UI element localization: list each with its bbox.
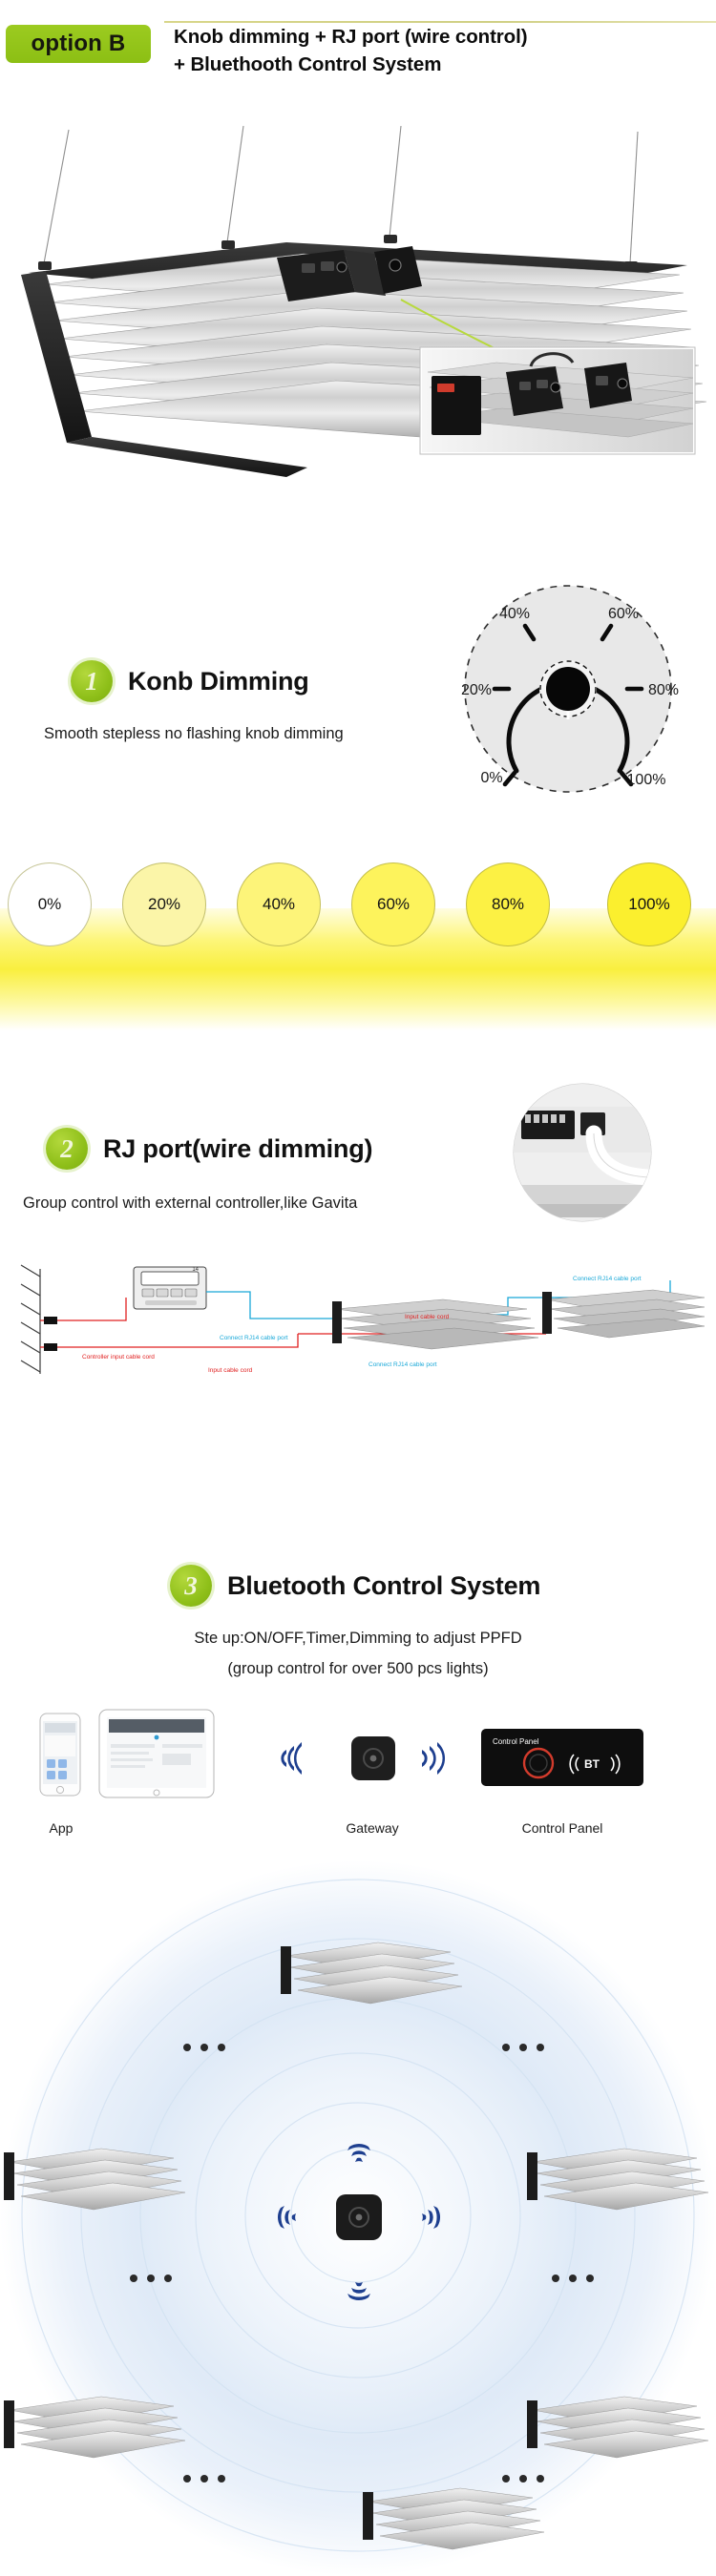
section3-number-badge: 3 xyxy=(170,1565,212,1607)
page-title-line2: + Bluethooth Control System xyxy=(174,51,708,78)
page-title-line1: Knob dimming + RJ port (wire control) xyxy=(174,23,708,51)
control-panel-title-text: Control Panel xyxy=(493,1737,539,1746)
percent-pill: 40% xyxy=(237,862,321,946)
dial-label-60: 60% xyxy=(608,606,639,622)
section3-title: Bluetooth Control System xyxy=(227,1571,540,1601)
section3-line2: (group control for over 500 pcs lights) xyxy=(0,1660,716,1678)
controller-display-value: 14 xyxy=(192,1267,199,1273)
option-badge: option B xyxy=(6,25,151,63)
gateway-device xyxy=(351,1736,395,1780)
dial-label-0: 0% xyxy=(480,770,502,786)
rj-port-closeup-image xyxy=(468,1078,697,1231)
wiring-label-rj14-2: Connect RJ14 cable port xyxy=(369,1361,437,1368)
dimming-gradient-strip: 0% 20% 40% 60% 80% 100% xyxy=(0,840,716,1030)
section3-heading: 3 Bluetooth Control System xyxy=(170,1565,540,1607)
percent-pill: 0% xyxy=(8,862,92,946)
device-label-app: App xyxy=(21,1820,101,1836)
infographic-page: option B Knob dimming + RJ port (wire co… xyxy=(0,0,716,2576)
tablet-device xyxy=(99,1710,214,1797)
percent-pill: 100% xyxy=(607,862,691,946)
dial-label-40: 40% xyxy=(499,606,530,622)
wifi-signal-icon xyxy=(422,1742,445,1775)
wiring-label-rj14-3: Connect RJ14 cable port xyxy=(573,1276,642,1282)
section1-subtitle: Smooth stepless no flashing knob dimming xyxy=(44,725,344,743)
wifi-signal-icon xyxy=(281,1742,302,1775)
wiring-label-rj14-1: Connect RJ14 cable port xyxy=(220,1335,288,1341)
mesh-hub-gateway xyxy=(336,2194,382,2240)
section1-heading: 1 Konb Dimming xyxy=(71,660,309,702)
section-bluetooth: 3 Bluetooth Control System Ste up:ON/OFF… xyxy=(0,1565,716,1851)
knob-dial-illustration: 0% 20% 40% 60% 80% 100% xyxy=(434,572,702,811)
wiring-label-input-2: Input cable cord xyxy=(405,1314,450,1320)
product-hero-image xyxy=(0,122,716,532)
section-knob-dimming: 1 Konb Dimming Smooth stepless no flashi… xyxy=(0,572,716,859)
device-row: Control Panel BT App Gateway Control Pan… xyxy=(0,1708,716,1851)
section2-number-badge: 2 xyxy=(46,1128,88,1170)
wiring-label-controller-input: Controller input cable cord xyxy=(82,1354,155,1361)
dial-label-100: 100% xyxy=(627,772,666,788)
dial-label-80: 80% xyxy=(648,682,679,698)
section3-line1: Ste up:ON/OFF,Timer,Dimming to adjust PP… xyxy=(0,1630,716,1648)
percent-pill: 80% xyxy=(466,862,550,946)
control-panel-device: Control Panel BT xyxy=(481,1729,643,1786)
device-label-control-panel: Control Panel xyxy=(500,1820,624,1836)
section-rj-port: 2 RJ port(wire dimming) Group control wi… xyxy=(0,1078,716,1402)
percent-pill: 60% xyxy=(351,862,435,946)
section1-title: Konb Dimming xyxy=(128,667,309,696)
mesh-network-diagram xyxy=(0,1860,716,2576)
section2-title: RJ port(wire dimming) xyxy=(103,1134,372,1164)
phone-device xyxy=(40,1714,80,1796)
bt-badge-text: BT xyxy=(584,1757,600,1771)
percent-pill-row: 0% 20% 40% 60% 80% 100% xyxy=(0,862,716,958)
section1-number-badge: 1 xyxy=(71,660,113,702)
device-label-gateway: Gateway xyxy=(325,1820,420,1836)
page-header: option B Knob dimming + RJ port (wire co… xyxy=(0,21,716,109)
section2-subtitle: Group control with external controller,l… xyxy=(23,1195,357,1213)
wiring-diagram: 14 xyxy=(11,1259,705,1393)
percent-pill: 20% xyxy=(122,862,206,946)
wiring-label-input-1: Input cable cord xyxy=(208,1367,253,1374)
section2-heading: 2 RJ port(wire dimming) xyxy=(46,1128,372,1170)
dial-label-20: 20% xyxy=(461,682,492,698)
page-title: Knob dimming + RJ port (wire control) + … xyxy=(174,23,708,78)
